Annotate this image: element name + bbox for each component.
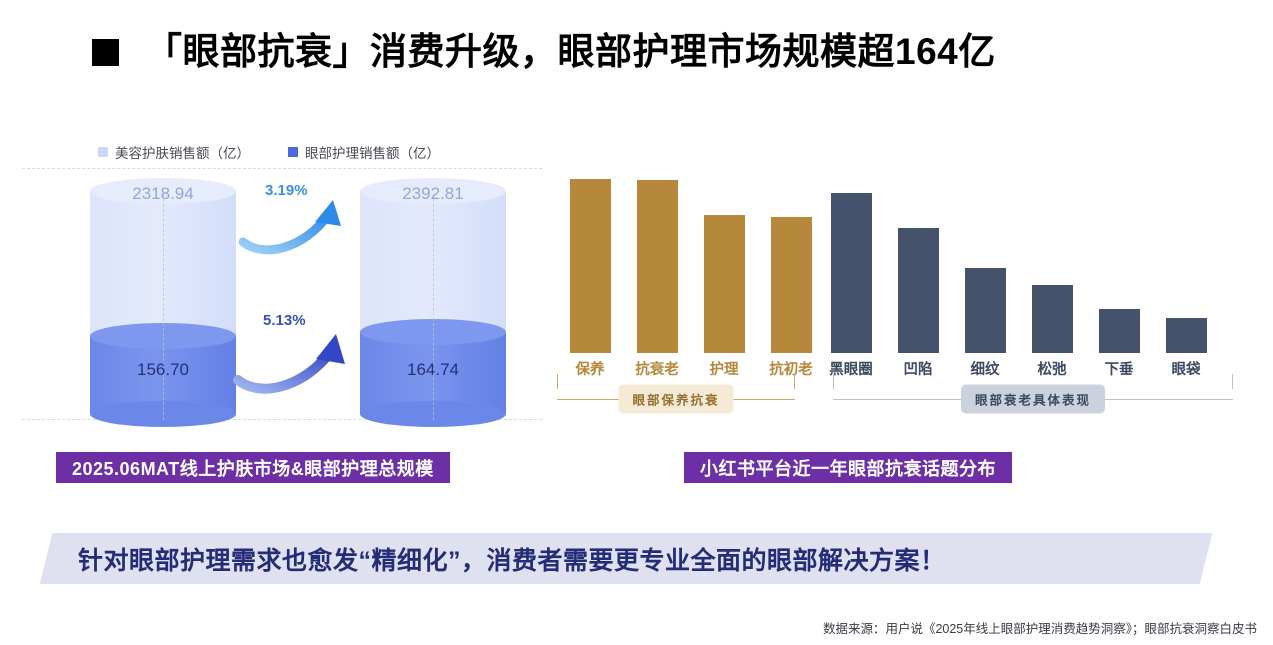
square-bullet-icon	[92, 39, 119, 66]
caption-right-chart: 小红书平台近一年眼部抗衰话题分布	[684, 452, 1012, 483]
left-chart-legend: 美容护肤销售额（亿） 眼部护理销售额（亿）	[98, 142, 440, 162]
bar	[1166, 318, 1207, 353]
cylinder-centerline	[433, 194, 434, 420]
bracket-tick-right	[794, 374, 795, 389]
bar	[831, 193, 872, 353]
legend-swatch-icon	[98, 147, 108, 157]
bar	[1099, 309, 1140, 353]
bar	[771, 217, 812, 353]
bar	[637, 180, 678, 353]
page-title-text: 「眼部抗衰」消费升级，眼部护理市场规模超164亿	[145, 32, 996, 73]
page-title: 「眼部抗衰」消费升级，眼部护理市场规模超164亿	[92, 32, 996, 73]
cylinder-total-label: 2392.81	[360, 184, 506, 204]
cylinder-body: 2318.94 156.70	[90, 178, 236, 414]
bottom-banner-text: 针对眼部护理需求也愈发“精细化”，消费者需要更专业全面的眼部解决方案！	[78, 538, 946, 580]
group-bracket-care: 眼部保养抗衰	[557, 388, 795, 410]
legend-item-eyecare: 眼部护理销售额（亿）	[288, 142, 440, 162]
legend-label: 眼部护理销售额（亿）	[305, 142, 440, 162]
legend-item-skincare: 美容护肤销售额（亿）	[98, 142, 250, 162]
cylinder-eyecare-label: 164.74	[360, 360, 506, 380]
cylinder-body: 2392.81 164.74	[360, 178, 506, 414]
cylinder-total-label: 2318.94	[90, 184, 236, 204]
bar	[704, 215, 745, 353]
bracket-tick-left	[833, 374, 834, 389]
bar-chart-bars	[545, 170, 1245, 353]
bar-chart-labels: 保养抗衰老护理抗初老黑眼圈凹陷细纹松弛下垂眼袋	[545, 358, 1245, 380]
bracket-tick-left	[557, 374, 558, 389]
legend-label: 美容护肤销售额（亿）	[115, 142, 250, 162]
cylinder-2024: 2318.94 156.70	[90, 178, 236, 414]
legend-swatch-icon	[288, 147, 298, 157]
group-label-care: 眼部保养抗衰	[618, 385, 733, 414]
bar-label-眼袋: 眼袋	[1146, 358, 1226, 379]
growth-pct-eyecare: 5.13%	[263, 312, 306, 329]
right-chart-panel: 保养抗衰老护理抗初老黑眼圈凹陷细纹松弛下垂眼袋 眼部保养抗衰 眼部衰老具体表现	[545, 170, 1245, 440]
cylinder-eyecare-label: 156.70	[90, 360, 236, 380]
caption-left-chart: 2025.06MAT线上护肤市场&眼部护理总规模	[56, 452, 450, 483]
bar	[898, 228, 939, 353]
left-chart-panel: 美容护肤销售额（亿） 眼部护理销售额（亿） 2318.94 156.70	[22, 136, 542, 436]
bar	[965, 268, 1006, 353]
bracket-tick-right	[1232, 374, 1233, 389]
source-footnote: 数据来源：用户说《2025年线上眼部护理消费趋势洞察》；眼部抗衰洞察白皮书	[823, 618, 1257, 637]
growth-pct-total: 3.19%	[265, 182, 308, 199]
cylinder-centerline	[163, 194, 164, 420]
group-bracket-aging: 眼部衰老具体表现	[833, 388, 1233, 410]
group-label-aging: 眼部衰老具体表现	[961, 385, 1105, 414]
gridline-top	[22, 168, 542, 169]
bar	[1032, 285, 1073, 353]
cylinder-2025: 2392.81 164.74	[360, 178, 506, 414]
bar	[570, 179, 611, 353]
